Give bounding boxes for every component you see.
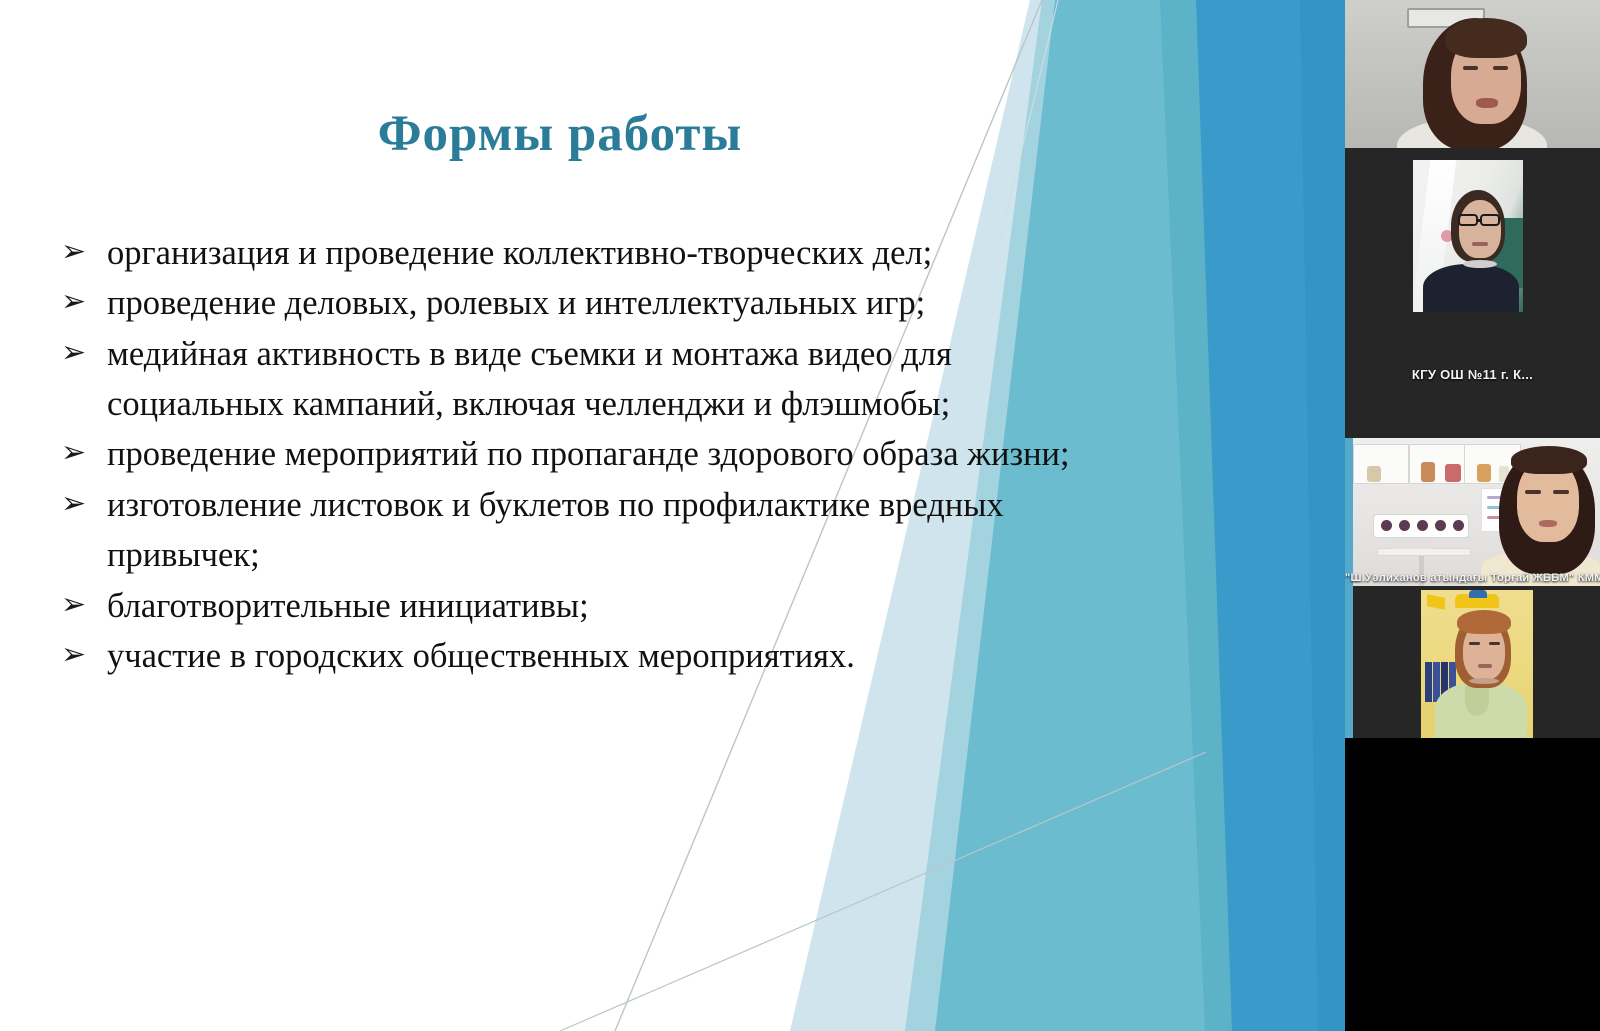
list-item-text: изготовление листовок и буклетов по проф… — [107, 480, 1085, 581]
shared-slide[interactable]: Формы работы ➢ организация и проведение … — [0, 0, 1345, 1031]
participant-name-label: КГУ ОШ №11 г. К... — [1345, 367, 1600, 382]
slide-bullet-list: ➢ организация и проведение коллективно-т… — [55, 228, 1085, 681]
video-stream — [1345, 0, 1600, 148]
list-item: ➢ проведение деловых, ролевых и интеллек… — [55, 278, 1085, 328]
empty-rail-area — [1345, 738, 1600, 1031]
list-item: ➢ благотворительные инициативы; — [55, 581, 1085, 631]
video-stream — [1353, 438, 1600, 586]
list-item-text: благотворительные инициативы; — [107, 581, 1085, 631]
list-item: ➢ проведение мероприятий по пропаганде з… — [55, 429, 1085, 479]
list-item: ➢ изготовление листовок и буклетов по пр… — [55, 480, 1085, 581]
slide-title: Формы работы — [0, 105, 1120, 163]
list-item-text: проведение деловых, ролевых и интеллекту… — [107, 278, 1085, 328]
participant-name-label: "Ш.Уәлиханов атындағы Торғай ЖББМ" КММ — [1345, 572, 1600, 584]
list-item: ➢ участие в городских общественных мероп… — [55, 631, 1085, 681]
arrowhead-bullet-icon: ➢ — [55, 480, 107, 529]
participant-tile[interactable]: КГУ ОШ №11 г. К... — [1345, 148, 1600, 438]
participant-rail[interactable]: КГУ ОШ №11 г. К... — [1345, 0, 1600, 1031]
video-conference-screen: Формы работы ➢ организация и проведение … — [0, 0, 1600, 1031]
list-item: ➢ организация и проведение коллективно-т… — [55, 228, 1085, 278]
list-item-text: организация и проведение коллективно-тво… — [107, 228, 1085, 278]
arrowhead-bullet-icon: ➢ — [55, 631, 107, 680]
arrowhead-bullet-icon: ➢ — [55, 278, 107, 327]
participant-tile[interactable] — [1345, 586, 1600, 738]
list-item: ➢ медийная активность в виде съемки и мо… — [55, 329, 1085, 430]
list-item-text: участие в городских общественных меропри… — [107, 631, 1085, 681]
slide-edge-strip — [1345, 586, 1353, 738]
arrowhead-bullet-icon: ➢ — [55, 429, 107, 478]
list-item-text: медийная активность в виде съемки и монт… — [107, 329, 1085, 430]
list-item-text: проведение мероприятий по пропаганде здо… — [107, 429, 1085, 479]
participant-tile[interactable] — [1345, 0, 1600, 148]
arrowhead-bullet-icon: ➢ — [55, 228, 107, 277]
participant-tile[interactable]: "Ш.Уәлиханов атындағы Торғай ЖББМ" КММ — [1345, 438, 1600, 586]
arrowhead-bullet-icon: ➢ — [55, 329, 107, 378]
arrowhead-bullet-icon: ➢ — [55, 581, 107, 630]
slide-edge-strip — [1345, 438, 1353, 586]
